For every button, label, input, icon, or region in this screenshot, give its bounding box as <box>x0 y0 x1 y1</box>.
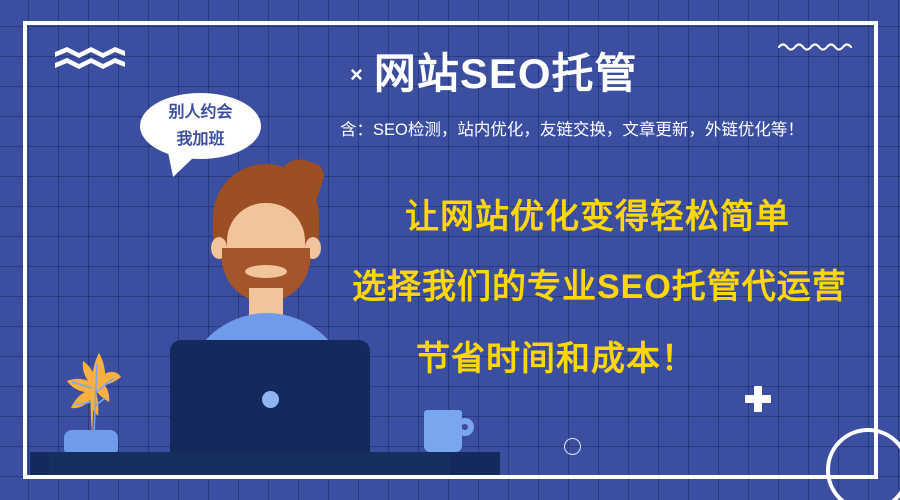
potted-plant-icon <box>58 348 128 438</box>
page-title-text: 网站SEO托管 <box>374 50 638 97</box>
coffee-mug-icon <box>424 410 462 452</box>
headline-line-2: 选择我们的专业SEO托管代运营 <box>352 266 847 308</box>
corner-circle-icon <box>826 428 900 500</box>
speech-bubble-text: 别人约会 我加班 <box>140 99 261 153</box>
poster-canvas: 别人约会 我加班 ×网站SEO托管 含：SEO检测，站内优化，友链交换，文章更新… <box>0 0 900 500</box>
cross-icon: × <box>350 62 364 87</box>
laptop-logo-icon <box>262 391 279 408</box>
headline-line-1: 让网站优化变得轻松简单 <box>405 196 790 238</box>
mouth <box>245 265 287 278</box>
plant-pot <box>64 430 118 454</box>
page-title: ×网站SEO托管 <box>350 46 770 102</box>
speech-bubble-line-2: 我加班 <box>140 126 261 153</box>
circle-outline-icon <box>564 438 581 455</box>
desk-front-shape <box>49 452 450 475</box>
speech-bubble-line-1: 别人约会 <box>140 99 261 126</box>
plus-icon <box>745 386 771 412</box>
headline-line-3: 节省时间和成本！ <box>416 338 696 380</box>
double-wave-icon <box>54 45 126 71</box>
subtitle: 含：SEO检测，站内优化，友链交换，文章更新，外链优化等！ <box>340 118 896 142</box>
thin-wave-icon <box>778 41 852 53</box>
